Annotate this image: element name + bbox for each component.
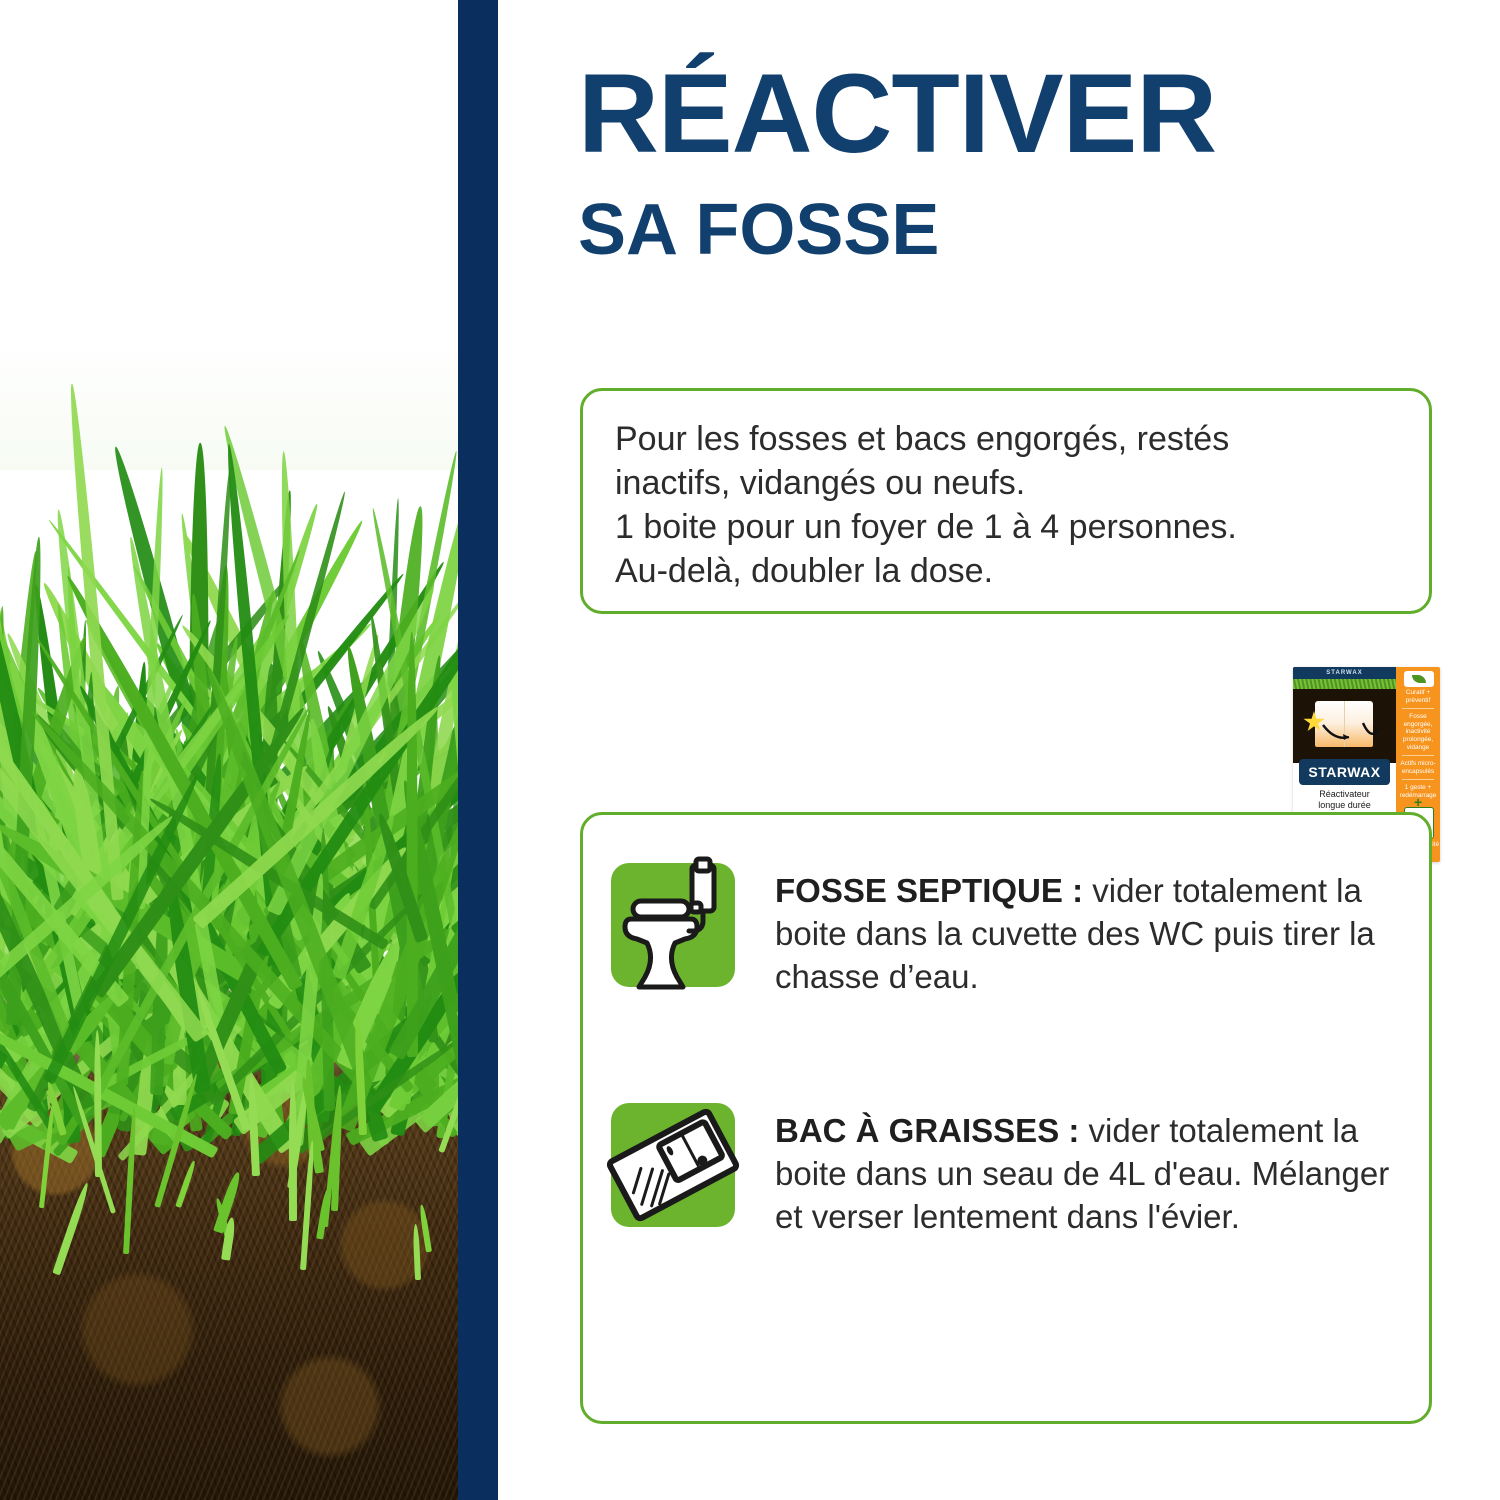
product-hero-illustration: STARWAX bbox=[1293, 667, 1396, 763]
navy-divider-bar bbox=[458, 0, 498, 1500]
product-claim-2: Actifs micro-encapsulés bbox=[1396, 760, 1440, 775]
step-heading-bac-a-graisses: BAC À GRAISSES : bbox=[775, 1112, 1079, 1149]
product-claim-0: Curatif + préventif bbox=[1396, 689, 1440, 704]
intro-line-4: Au-delà, doubler la dose. bbox=[615, 549, 1405, 593]
intro-line-3: 1 boite pour un foyer de 1 à 4 personnes… bbox=[615, 505, 1405, 549]
toilet-icon-glyph bbox=[611, 863, 735, 987]
product-desc-line-1: Réactivateur bbox=[1297, 789, 1392, 800]
product-brand-text: STARWAX bbox=[1308, 764, 1380, 780]
toilet-icon bbox=[611, 863, 735, 987]
step-row-fosse-septique: FOSSE SEPTIQUE : vider totalement la boi… bbox=[611, 863, 1415, 998]
intro-text: Pour les fosses et bacs engorgés, restés… bbox=[615, 417, 1405, 593]
sink-icon bbox=[611, 1103, 735, 1227]
product-desc-line-2: longue durée bbox=[1297, 800, 1392, 811]
title-line-1: RÉACTIVER bbox=[578, 58, 1458, 170]
leaf-badge-icon bbox=[1404, 671, 1434, 687]
step-heading-fosse-septique: FOSSE SEPTIQUE : bbox=[775, 872, 1083, 909]
claim-separator bbox=[1402, 708, 1434, 709]
sink-icon-glyph bbox=[611, 1103, 735, 1227]
product-brand-logo: STARWAX bbox=[1299, 759, 1390, 785]
grass-soil-photo bbox=[0, 0, 458, 1500]
product-claim-1: Fosse engorgée, inactivité prolongée, vi… bbox=[1396, 713, 1440, 751]
title-line-2: SA FOSSE bbox=[578, 194, 1458, 266]
step-row-bac-a-graisses: BAC À GRAISSES : vider totalement la boi… bbox=[611, 1103, 1415, 1238]
step-text-fosse-septique: FOSSE SEPTIQUE : vider totalement la boi… bbox=[775, 863, 1415, 998]
page-title: RÉACTIVER SA FOSSE bbox=[578, 58, 1458, 266]
infographic-page: RÉACTIVER SA FOSSE Pour les fosses et ba… bbox=[0, 0, 1500, 1500]
steps-box: FOSSE SEPTIQUE : vider totalement la boi… bbox=[580, 812, 1432, 1424]
photo-grass-blades bbox=[0, 0, 458, 1500]
intro-box: Pour les fosses et bacs engorgés, restés… bbox=[580, 388, 1432, 614]
step-text-bac-a-graisses: BAC À GRAISSES : vider totalement la boi… bbox=[775, 1103, 1415, 1238]
product-flow-arrows-icon bbox=[1293, 667, 1396, 763]
intro-line-1: Pour les fosses et bacs engorgés, restés bbox=[615, 417, 1405, 461]
claim-separator bbox=[1402, 755, 1434, 756]
intro-line-2: inactifs, vidangés ou neufs. bbox=[615, 461, 1405, 505]
claim-separator bbox=[1402, 779, 1434, 780]
